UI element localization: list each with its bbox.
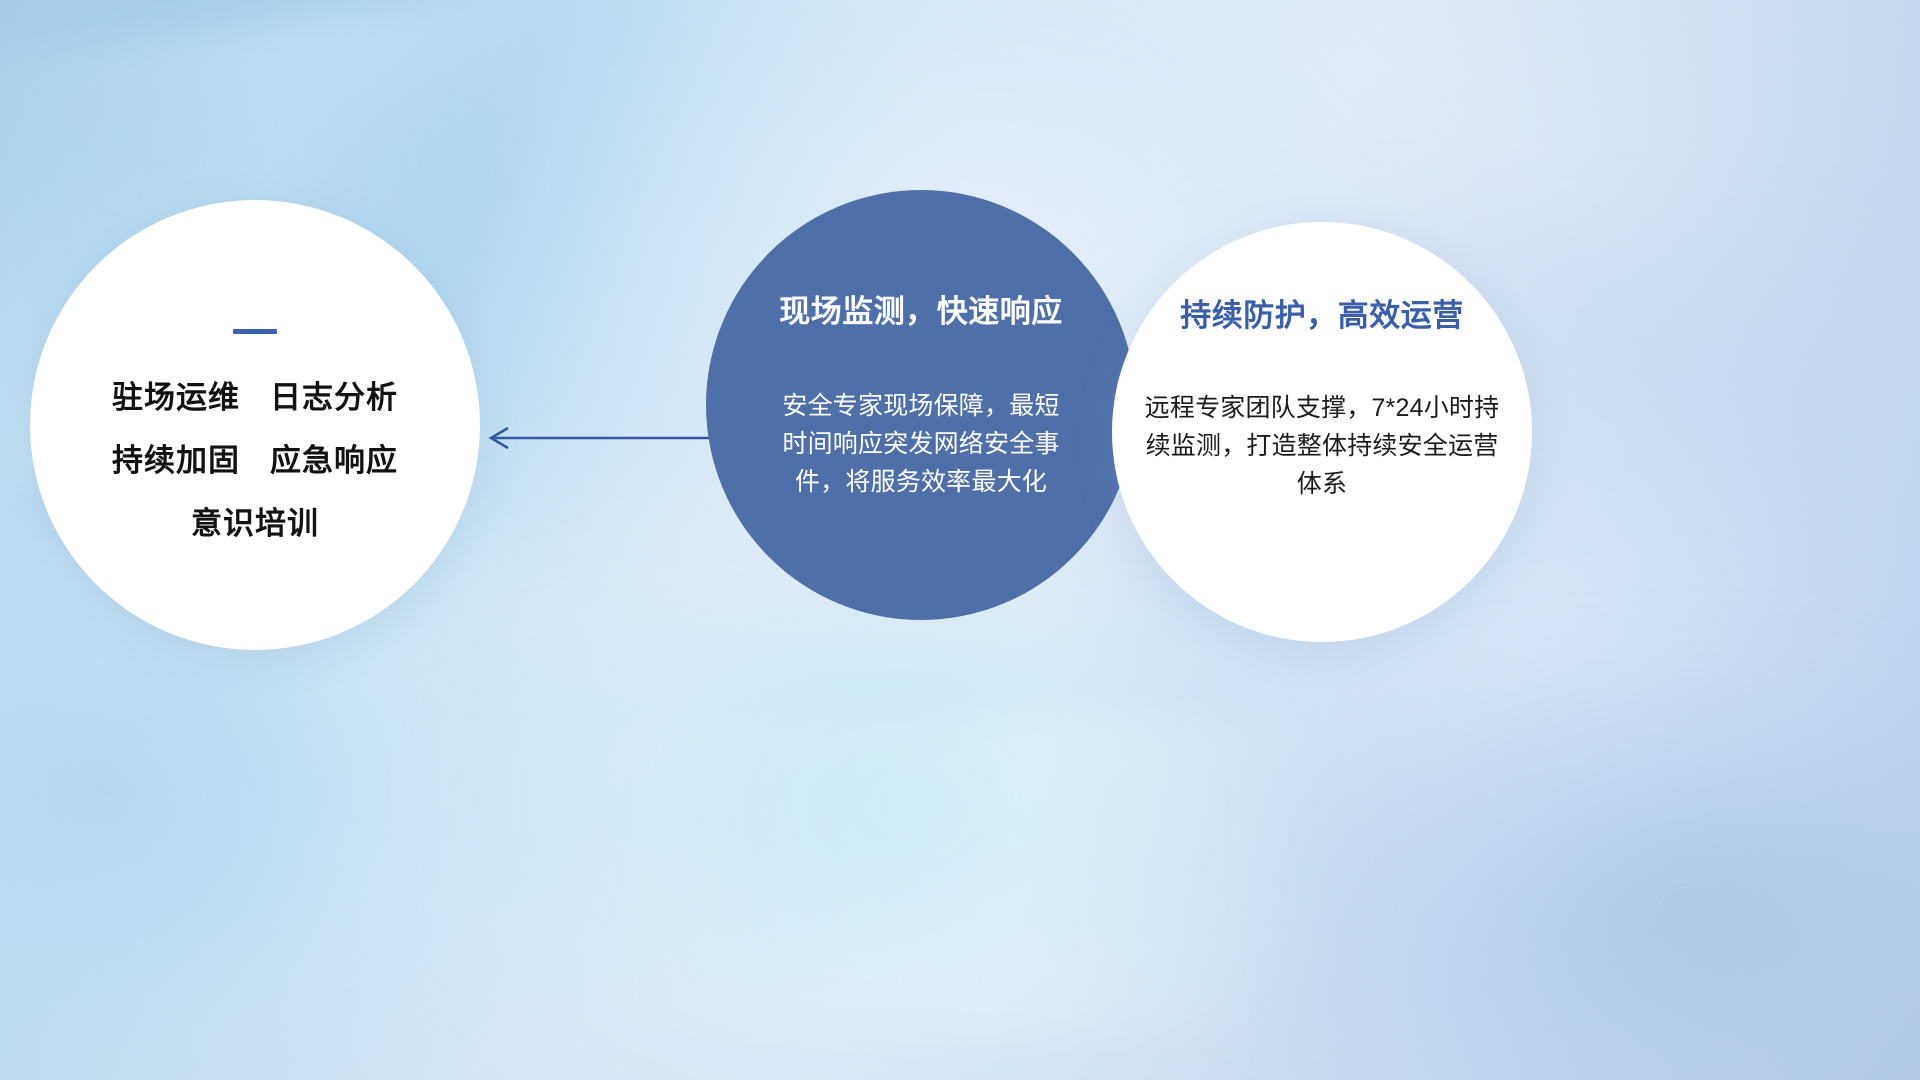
keyword-label: 应急响应 (270, 445, 398, 476)
left-circle-content: 驻场运维 日志分析 持续加固 应急响应 意识培训 (30, 200, 480, 650)
divider-dash (233, 329, 277, 334)
keyword-label: 持续加固 (112, 445, 240, 476)
arrow-icon (480, 415, 730, 461)
right-circle-title: 持续防护，高效运营 (1180, 290, 1464, 335)
right-circle-content: 持续防护，高效运营 远程专家团队支撑，7*24小时持续监测，打造整体持续安全运营… (1112, 222, 1532, 642)
keyword-label: 驻场运维 (112, 382, 240, 413)
keyword-row: 驻场运维 日志分析 (112, 382, 398, 413)
middle-circle-title: 现场监测，快速响应 (779, 286, 1063, 331)
right-circle-body: 远程专家团队支撑，7*24小时持续监测，打造整体持续安全运营体系 (1142, 389, 1502, 503)
middle-circle-body: 安全专家现场保障，最短时间响应突发网络安全事件，将服务效率最大化 (775, 387, 1067, 501)
keyword-row: 意识培训 (191, 508, 319, 539)
keyword-label: 意识培训 (191, 508, 319, 539)
keyword-label: 日志分析 (270, 382, 398, 413)
keyword-row: 持续加固 应急响应 (112, 445, 398, 476)
middle-circle-content: 现场监测，快速响应 安全专家现场保障，最短时间响应突发网络安全事件，将服务效率最… (716, 190, 1126, 620)
